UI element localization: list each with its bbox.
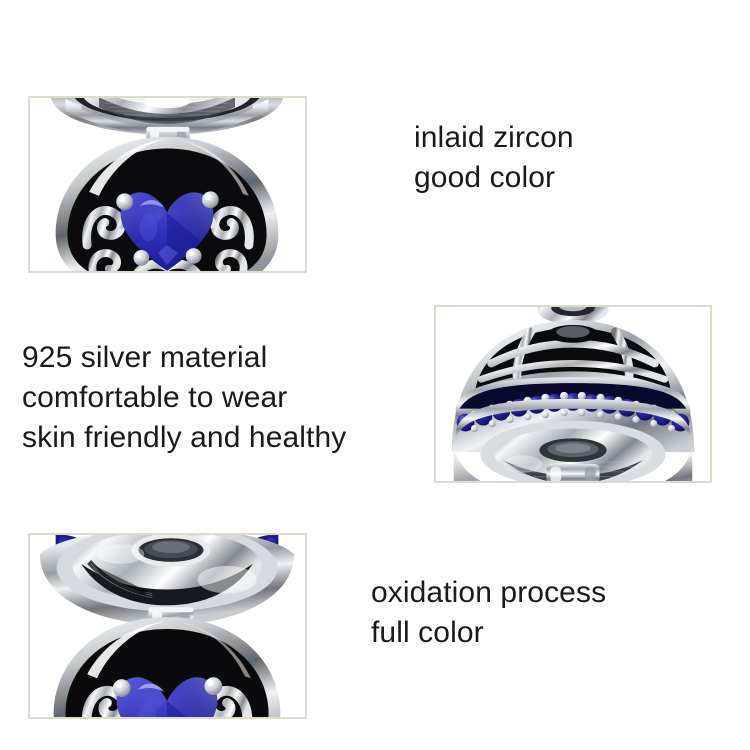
- feature-line: full color: [371, 613, 606, 653]
- oxidation-detail-photo: [28, 533, 307, 719]
- heart-zircon-closeup-artwork: [30, 98, 305, 271]
- feature-silver-material: 925 silver material comfortable to wear …: [22, 338, 346, 458]
- feature-line: inlaid zircon: [414, 118, 574, 158]
- feature-line: oxidation process: [371, 573, 606, 613]
- feature-oxidation-process: oxidation process full color: [371, 573, 606, 653]
- pave-band-artwork: [436, 307, 710, 481]
- feature-line: good color: [414, 158, 574, 198]
- product-feature-collage: inlaid zircon good color 925 silver mate…: [0, 0, 750, 750]
- feature-line: 925 silver material: [22, 338, 346, 378]
- feature-inlaid-zircon: inlaid zircon good color: [414, 118, 574, 198]
- oxidation-detail-artwork: [30, 535, 305, 717]
- heart-zircon-closeup-photo: [28, 96, 307, 273]
- feature-line: comfortable to wear: [22, 378, 346, 418]
- pave-band-photo: [434, 305, 712, 483]
- ring-bottom-hinge: [546, 464, 599, 481]
- feature-line: skin friendly and healthy: [22, 418, 346, 458]
